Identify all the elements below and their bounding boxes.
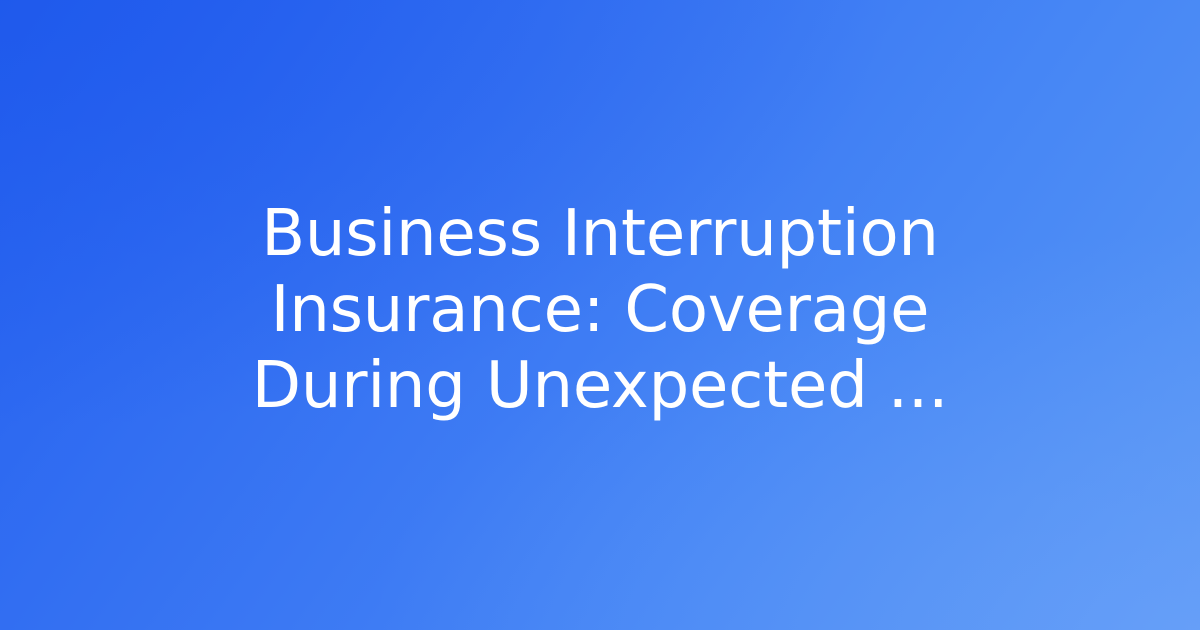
share-card: Business Interruption Insurance: Coverag… [0,0,1200,630]
card-content-area: Business Interruption Insurance: Coverag… [0,0,1200,630]
card-title-block: Business Interruption Insurance: Coverag… [180,196,1020,424]
page-title: Business Interruption Insurance: Coverag… [180,196,1020,424]
